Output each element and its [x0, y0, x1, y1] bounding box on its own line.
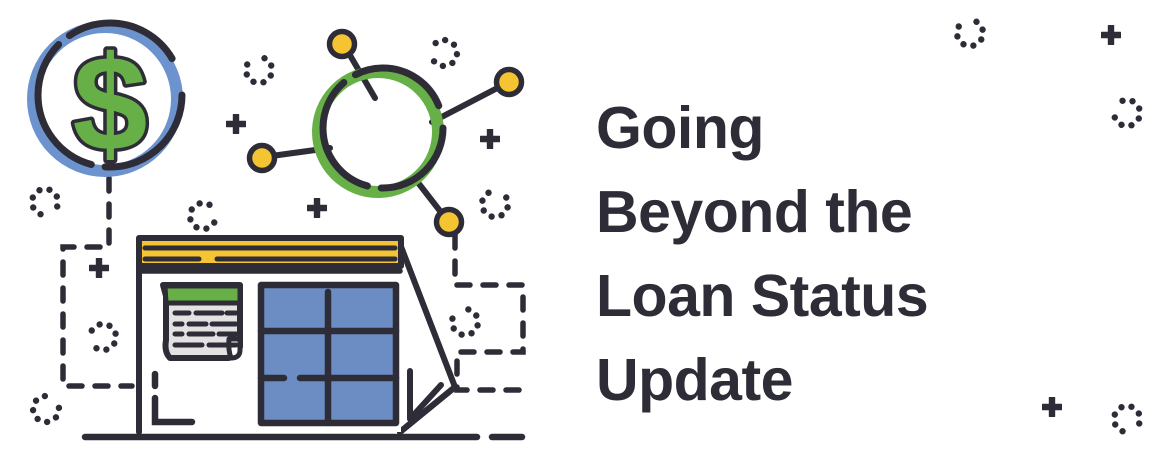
dot-circle-icon: [181, 194, 225, 238]
dot-circle-icon: [1106, 92, 1148, 134]
dot-circle-icon: [24, 181, 66, 223]
plus-icon: [1101, 25, 1121, 45]
dot-circle-icon: [473, 182, 517, 226]
network-node: [497, 70, 522, 95]
plus-icon: [89, 258, 109, 278]
dashed-connector-path-right: [455, 235, 523, 390]
network-node-icon: [250, 32, 522, 235]
dot-circle-icon: [421, 30, 467, 76]
dollar-sign-glyph: $: [72, 28, 147, 179]
dot-circle-icon: [948, 11, 992, 55]
loan-status-illustration: $: [0, 0, 585, 466]
dot-circle-icon: [28, 391, 63, 426]
dashed-connector-path-left: [63, 178, 132, 386]
plus-icon: [480, 129, 500, 149]
plus-icon: [226, 114, 246, 134]
bank-building-icon: [139, 238, 455, 432]
dollar-coin-icon: $: [33, 23, 182, 179]
plus-icon: [1042, 397, 1062, 417]
promo-banner: $: [0, 0, 1170, 466]
dot-circle-icon: [237, 48, 280, 91]
building-window: [261, 285, 396, 423]
right-decorations: [930, 0, 1170, 466]
plus-icon: [307, 198, 327, 218]
dot-circle-icon: [81, 315, 125, 359]
building-awning: [139, 238, 401, 266]
network-nodes: [250, 32, 522, 235]
network-node: [437, 210, 462, 235]
dot-circle-icon: [445, 302, 485, 342]
document-icon: [163, 285, 240, 358]
dot-circle-icon: [1106, 398, 1148, 440]
svg-text:$: $: [72, 28, 147, 179]
network-node: [250, 146, 275, 171]
network-node: [330, 32, 355, 57]
